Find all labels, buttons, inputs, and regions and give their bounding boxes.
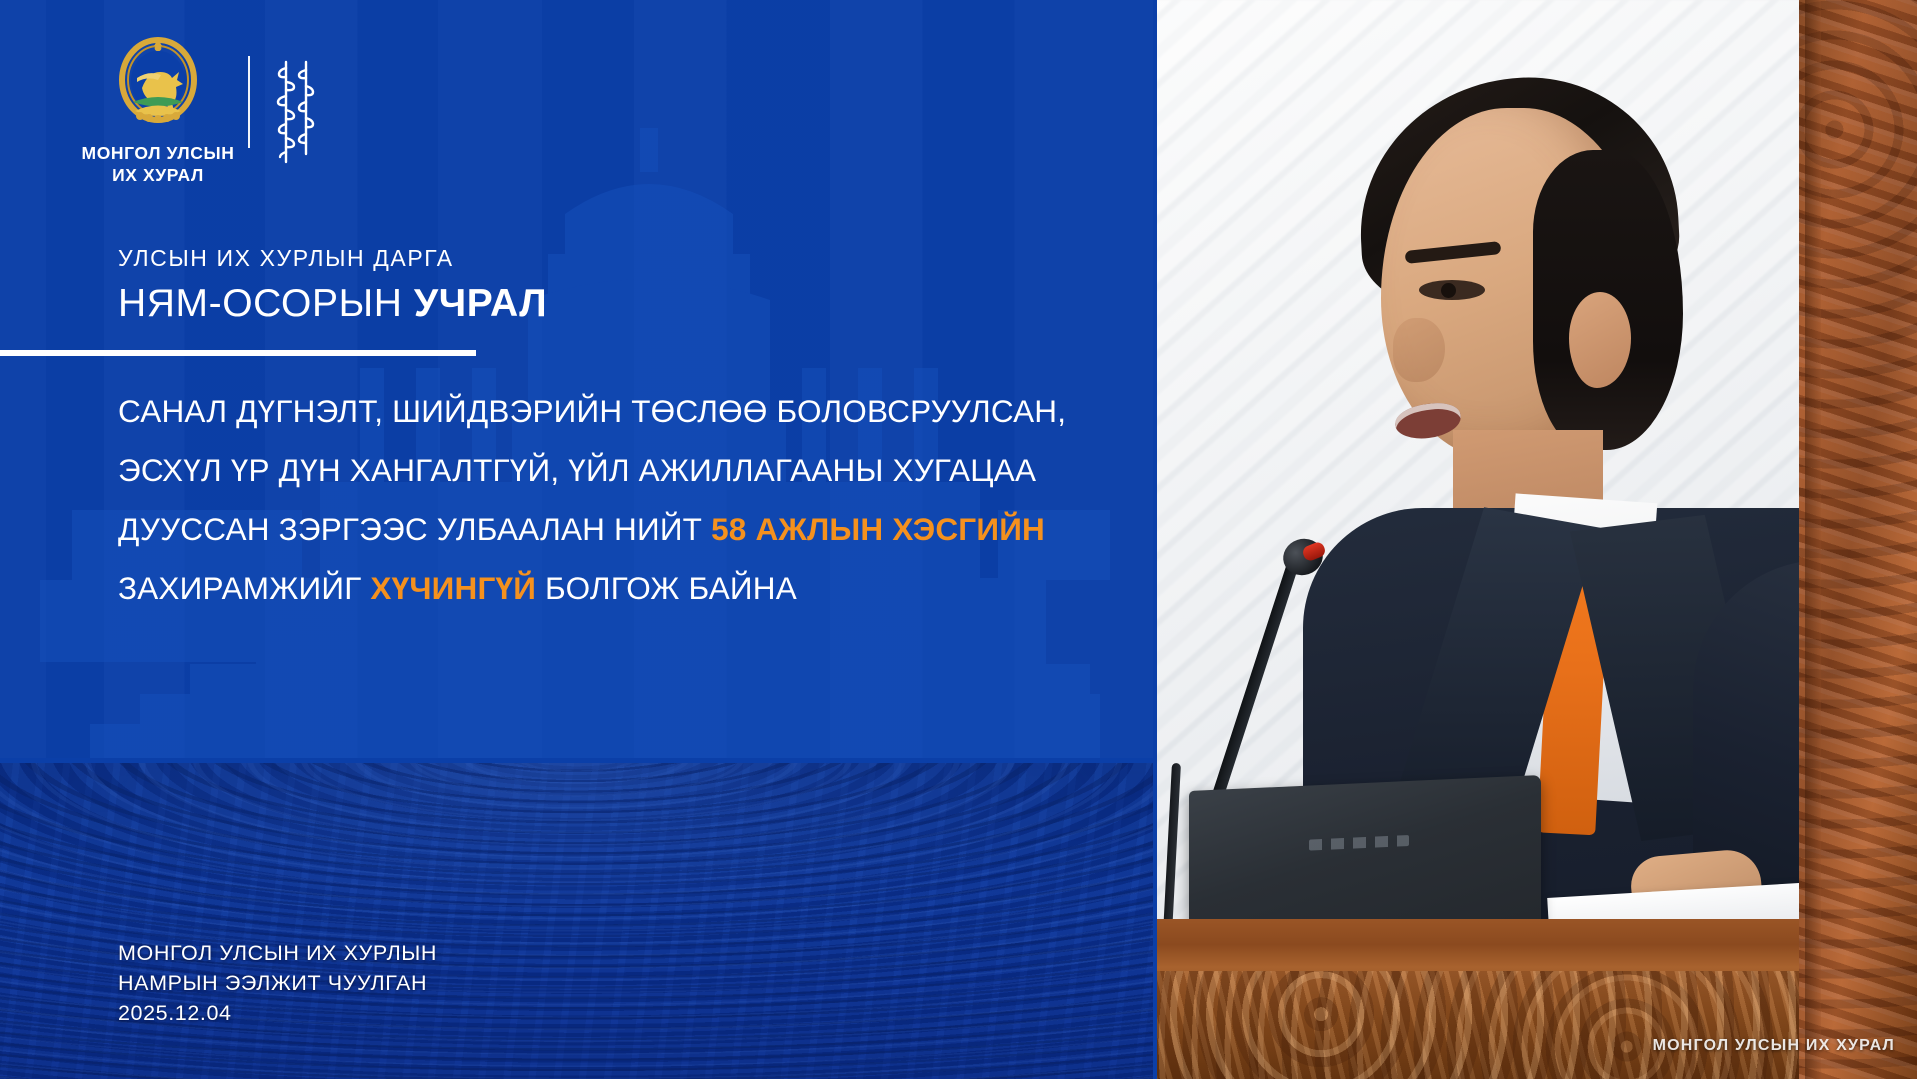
title-rule-divider xyxy=(0,350,476,356)
emblem-title: МОНГОЛ УЛСЫН ИХ ХУРАЛ xyxy=(82,142,235,187)
vertical-divider-icon xyxy=(248,56,250,148)
body-line-1: САНАЛ ДҮГНЭЛТ, ШИЙДВЭРИЙН ТӨСЛӨӨ БОЛОВСР… xyxy=(118,382,1118,441)
mongolia-state-emblem-icon xyxy=(115,36,201,132)
body-line-3-text: ДУУССАН ЗЭРГЭЭС УЛБААЛАН НИЙТ xyxy=(118,511,711,547)
parliament-chamber-photo xyxy=(0,758,1153,1079)
traditional-mongolian-script-icon xyxy=(272,58,318,168)
speaker-name-surname: НЯМ-ОСОРЫН xyxy=(118,282,414,325)
announcement-body: САНАЛ ДҮГНЭЛТ, ШИЙДВЭРИЙН ТӨСЛӨӨ БОЛОВСР… xyxy=(118,382,1118,618)
chamber-top-edge xyxy=(0,758,1153,763)
caption-line-1: МОНГОЛ УЛСЫН ИХ ХУРЛЫН xyxy=(118,938,437,968)
emblem-wrapper: МОНГОЛ УЛСЫН ИХ ХУРАЛ xyxy=(72,36,244,187)
left-content-panel: МОНГОЛ УЛСЫН ИХ ХУРАЛ xyxy=(0,0,1153,1079)
chamber-tint xyxy=(0,758,1153,1079)
speaker-role-kicker: УЛСЫН ИХ ХУРЛЫН ДАРГА xyxy=(118,245,454,272)
laptop-brand-mark-icon xyxy=(1309,835,1409,851)
speaker-name-given: УЧРАЛ xyxy=(414,282,547,325)
frame-inner-shadow xyxy=(1805,0,1821,1079)
eye-icon xyxy=(1419,280,1485,300)
parliament-logo-block: МОНГОЛ УЛСЫН ИХ ХУРАЛ xyxy=(72,36,318,187)
speaker-photo: МОНГОЛ УЛСЫН ИХ ХУРАЛ xyxy=(1153,0,1917,1079)
session-caption: МОНГОЛ УЛСЫН ИХ ХУРЛЫН НАМРЫН ЭЭЛЖИТ ЧУУ… xyxy=(118,938,437,1028)
body-line-2: ЭСХҮЛ ҮР ДҮН ХАНГАЛТГҮЙ, ҮЙЛ АЖИЛЛАГААНЫ… xyxy=(118,441,1118,500)
speaker-name: НЯМ-ОСОРЫН УЧРАЛ xyxy=(118,282,547,326)
body-line-3-highlight: 58 АЖЛЫН ХЭСГИЙН xyxy=(711,511,1045,547)
body-line-3: ДУУССАН ЗЭРГЭЭС УЛБААЛАН НИЙТ 58 АЖЛЫН Х… xyxy=(118,500,1118,559)
body-line-4-text-a: ЗАХИРАМЖИЙГ xyxy=(118,570,370,606)
body-line-4-highlight: ХҮЧИНГҮЙ xyxy=(370,570,536,606)
announcement-card: МОНГОЛ УЛСЫН ИХ ХУРАЛ xyxy=(0,0,1917,1079)
photo-watermark: МОНГОЛ УЛСЫН ИХ ХУРАЛ xyxy=(1653,1037,1895,1055)
caption-line-2: НАМРЫН ЭЭЛЖИТ ЧУУЛГАН xyxy=(118,968,437,998)
photo-left-seam xyxy=(1153,0,1157,1079)
caption-date: 2025.12.04 xyxy=(118,998,437,1028)
body-line-4: ЗАХИРАМЖИЙГ ХҮЧИНГҮЙ БОЛГОЖ БАЙНА xyxy=(118,559,1118,618)
body-line-4-text-b: БОЛГОЖ БАЙНА xyxy=(536,570,797,606)
